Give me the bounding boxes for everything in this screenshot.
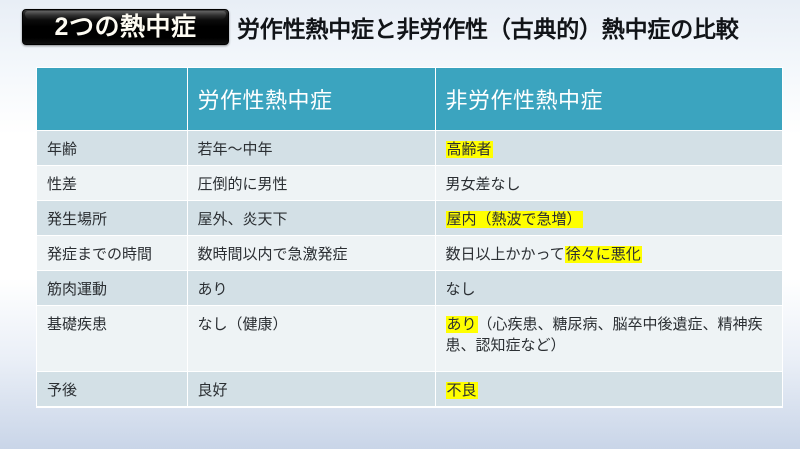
table-row: 基礎疾患なし（健康）あり（心疾患、糖尿病、脳卒中後遺症、精神疾患、認知症など） — [37, 306, 782, 372]
cell-exertional: あり — [187, 271, 435, 306]
cell-nonexertional-highlight: 徐々に悪化 — [565, 246, 642, 263]
cell-nonexertional-text: 男女差なし — [446, 176, 521, 193]
cell-exertional: 良好 — [187, 372, 435, 407]
cell-exertional-text: 屋外、炎天下 — [198, 211, 288, 228]
cell-nonexertional-highlight: 不良 — [446, 382, 478, 399]
comparison-table: 労作性熱中症 非労作性熱中症 年齢若年〜中年高齢者性差圧倒的に男性男女差なし発生… — [37, 68, 782, 407]
cell-nonexertional: 不良 — [435, 372, 782, 407]
row-label: 基礎疾患 — [37, 306, 187, 372]
cell-exertional-text: なし（健康） — [198, 316, 288, 333]
row-label: 予後 — [37, 372, 187, 407]
row-label: 筋肉運動 — [37, 271, 187, 306]
cell-nonexertional: 数日以上かかって徐々に悪化 — [435, 236, 782, 271]
cell-exertional-text: 圧倒的に男性 — [198, 176, 288, 193]
table-row: 発症までの時間数時間以内で急激発症数日以上かかって徐々に悪化 — [37, 236, 782, 271]
row-label: 性差 — [37, 166, 187, 201]
table-body: 年齢若年〜中年高齢者性差圧倒的に男性男女差なし発生場所屋外、炎天下屋内（熱波で急… — [37, 131, 782, 407]
row-label: 年齢 — [37, 131, 187, 166]
title-badge-label: 2つの熱中症 — [55, 15, 197, 40]
cell-exertional-text: 若年〜中年 — [198, 141, 273, 158]
column-header-exertional: 労作性熱中症 — [187, 68, 435, 131]
row-label: 発症までの時間 — [37, 236, 187, 271]
cell-nonexertional-highlight: 高齢者 — [446, 141, 493, 158]
cell-nonexertional-highlight: あり — [446, 316, 478, 333]
table-row: 筋肉運動ありなし — [37, 271, 782, 306]
cell-nonexertional-text: （心疾患、糖尿病、脳卒中後遺症、精神疾患、認知症など） — [446, 316, 763, 354]
cell-nonexertional: あり（心疾患、糖尿病、脳卒中後遺症、精神疾患、認知症など） — [435, 306, 782, 372]
table-row: 年齢若年〜中年高齢者 — [37, 131, 782, 166]
cell-exertional: 屋外、炎天下 — [187, 201, 435, 236]
table-row: 性差圧倒的に男性男女差なし — [37, 166, 782, 201]
cell-exertional-text: あり — [198, 281, 228, 298]
column-header-label — [37, 68, 187, 131]
cell-nonexertional: 男女差なし — [435, 166, 782, 201]
cell-exertional: 数時間以内で急激発症 — [187, 236, 435, 271]
cell-nonexertional-highlight: 屋内（熱波で急増） — [446, 211, 583, 228]
row-label: 発生場所 — [37, 201, 187, 236]
table-header-row: 労作性熱中症 非労作性熱中症 — [37, 68, 782, 131]
title-badge: 2つの熱中症 — [22, 9, 229, 45]
cell-nonexertional: 高齢者 — [435, 131, 782, 166]
comparison-table-container: 労作性熱中症 非労作性熱中症 年齢若年〜中年高齢者性差圧倒的に男性男女差なし発生… — [36, 67, 783, 408]
cell-exertional: なし（健康） — [187, 306, 435, 372]
cell-nonexertional-text: 数日以上かかって — [446, 246, 565, 263]
column-header-nonexertional: 非労作性熱中症 — [435, 68, 782, 131]
cell-nonexertional-text: なし — [446, 281, 476, 298]
title-bar: 2つの熱中症 労作性熱中症と非労作性（古典的）熱中症の比較 — [0, 0, 800, 52]
slide-canvas: 2つの熱中症 労作性熱中症と非労作性（古典的）熱中症の比較 労作性熱中症 非労作… — [0, 0, 800, 449]
table-header: 労作性熱中症 非労作性熱中症 — [37, 68, 782, 131]
table-row: 発生場所屋外、炎天下屋内（熱波で急増） — [37, 201, 782, 236]
cell-exertional-text: 数時間以内で急激発症 — [198, 246, 348, 263]
slide-subtitle: 労作性熱中症と非労作性（古典的）熱中症の比較 — [237, 10, 739, 44]
cell-nonexertional: なし — [435, 271, 782, 306]
table-row: 予後良好不良 — [37, 372, 782, 407]
cell-exertional: 若年〜中年 — [187, 131, 435, 166]
cell-nonexertional: 屋内（熱波で急増） — [435, 201, 782, 236]
cell-exertional-text: 良好 — [198, 382, 228, 399]
cell-exertional: 圧倒的に男性 — [187, 166, 435, 201]
